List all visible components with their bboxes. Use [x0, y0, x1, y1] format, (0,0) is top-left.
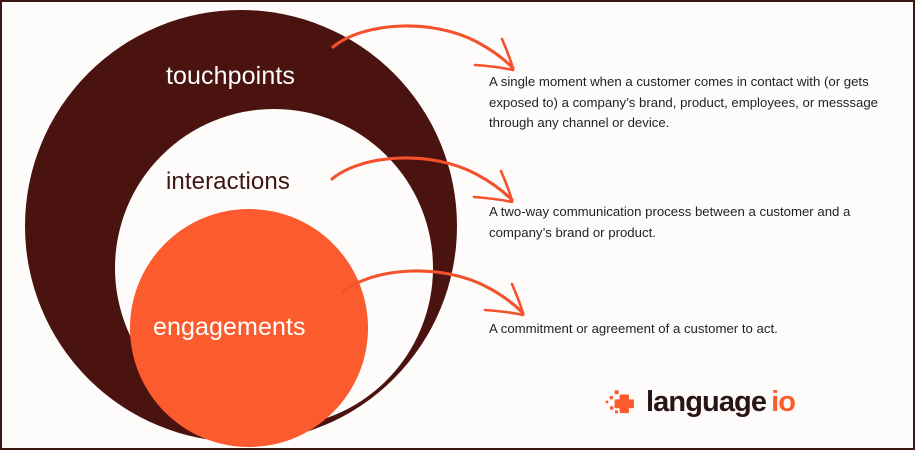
nested-circles-diagram: touchpoints interactions engagements [2, 2, 482, 450]
logo-word-language: language [646, 386, 766, 418]
diagram-canvas: touchpoints interactions engagements [0, 0, 915, 450]
language-io-plus-mark-icon [605, 386, 639, 418]
language-io-logo: languageio [605, 382, 795, 422]
circle-label-interactions: interactions [166, 168, 290, 196]
definition-touchpoints: A single moment when a customer comes in… [489, 72, 881, 134]
circle-label-engagements: engagements [153, 313, 306, 342]
definition-interactions: A two-way communication process between … [489, 202, 881, 243]
logo-word-io: io [771, 386, 795, 418]
circle-label-touchpoints: touchpoints [166, 62, 295, 91]
definition-engagements: A commitment or agreement of a customer … [489, 319, 881, 340]
language-io-wordmark: languageio [646, 388, 795, 417]
